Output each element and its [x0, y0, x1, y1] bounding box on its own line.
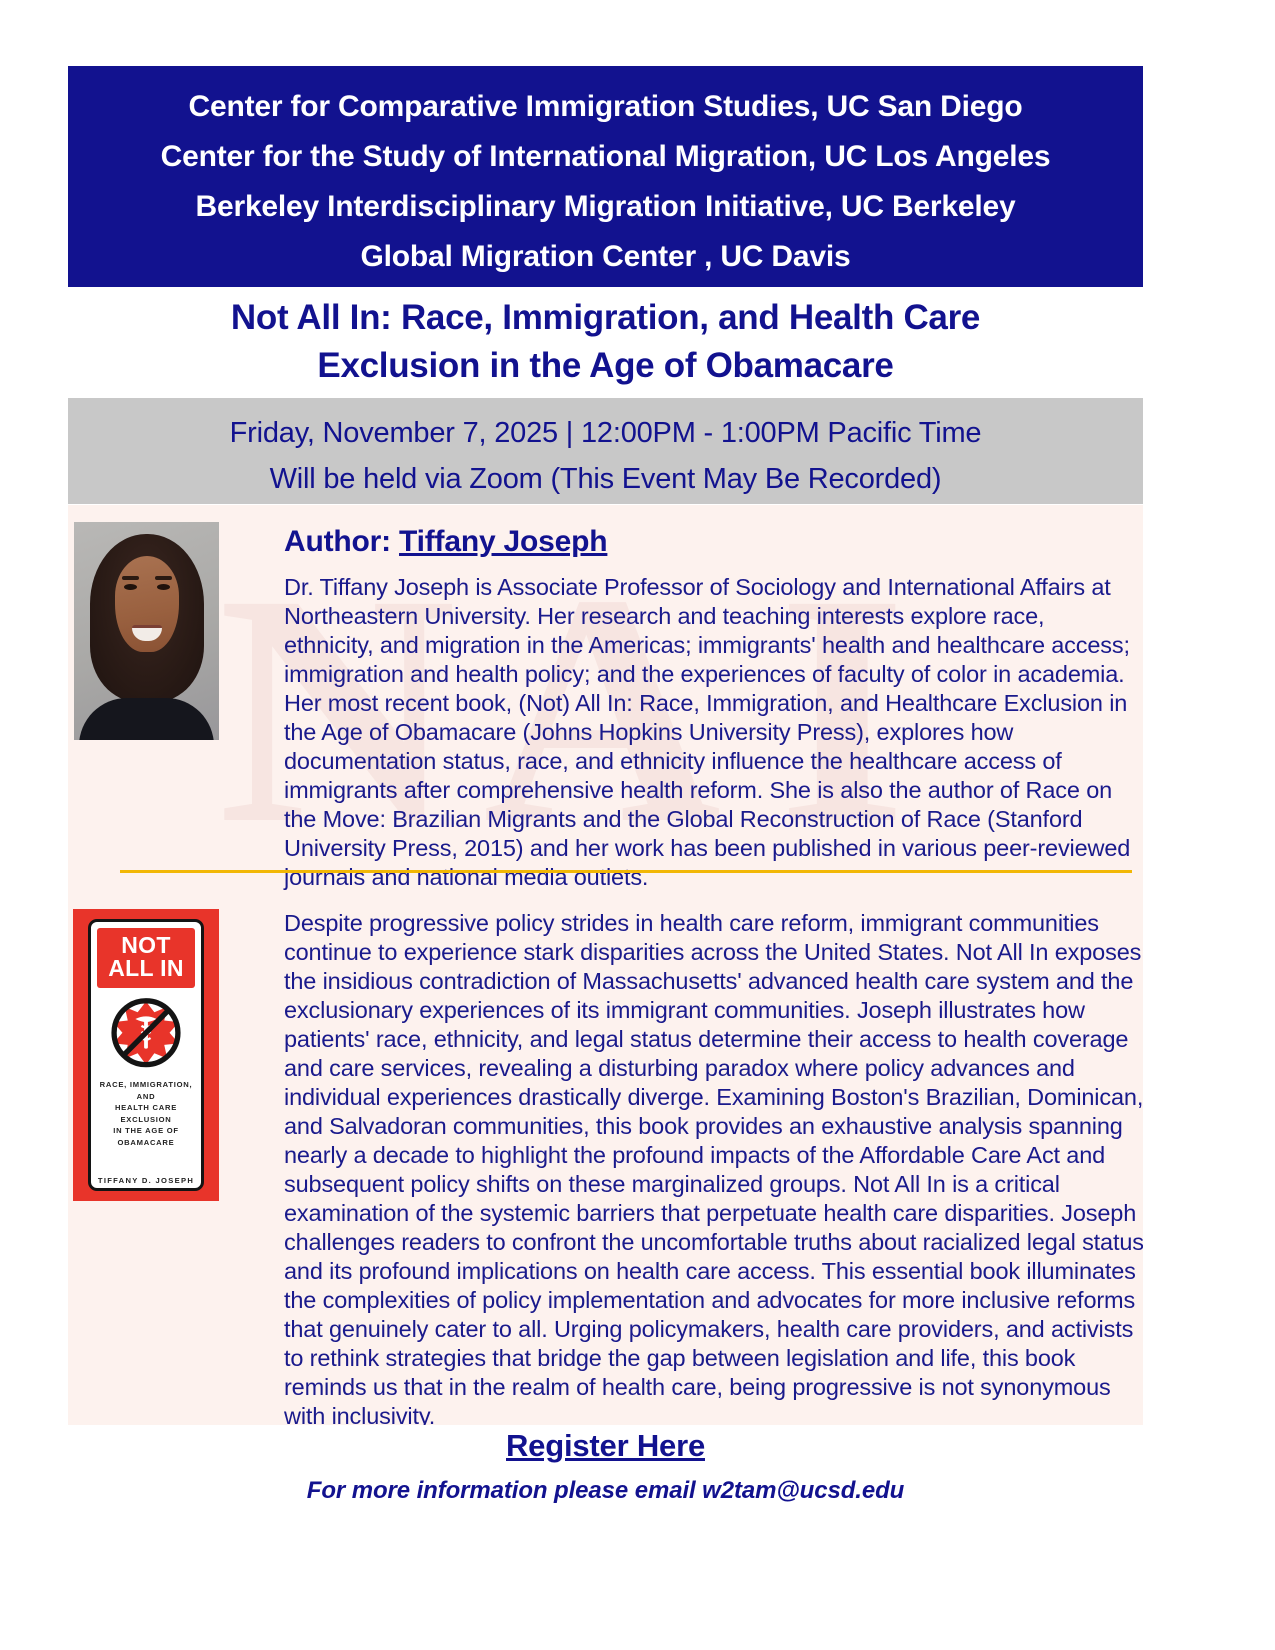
- book-cover-title: NOT ALL IN: [97, 928, 195, 988]
- book-cover-subtitle: RACE, IMMIGRATION, AND HEALTH CARE EXCLU…: [97, 1079, 195, 1148]
- book-cover-title-line-2: ALL IN: [99, 957, 193, 980]
- sponsor-line-3: Berkeley Interdisciplinary Migration Ini…: [86, 182, 1125, 232]
- headshot-brow-right: [155, 576, 172, 580]
- no-caduceus-icon: [108, 997, 184, 1073]
- sponsor-banner: Center for Comparative Immigration Studi…: [68, 66, 1143, 287]
- contact-info: For more information please email w2tam@…: [68, 1477, 1143, 1505]
- author-label: Author:: [284, 525, 399, 558]
- book-cover-subtitle-line-1: RACE, IMMIGRATION, AND: [97, 1079, 195, 1102]
- event-format-text: Will be held via Zoom (This Event May Be…: [68, 456, 1143, 502]
- headshot-eye-left: [124, 584, 137, 590]
- event-datetime-bar: Friday, November 7, 2025 | 12:00PM - 1:0…: [68, 398, 1143, 504]
- register-here-link[interactable]: Register Here: [506, 1428, 705, 1464]
- headshot-eye-right: [157, 584, 170, 590]
- event-title-line-1: Not All In: Race, Immigration, and Healt…: [68, 294, 1143, 342]
- book-cover-subtitle-line-3: IN THE AGE OF OBAMACARE: [97, 1125, 195, 1148]
- author-headshot: [74, 522, 219, 740]
- content-panel: N A I Author: Tiffany Joseph Dr. Tiffany…: [68, 505, 1143, 1425]
- event-date-text: Friday, November 7, 2025 | 12:00PM - 1:0…: [68, 410, 1143, 456]
- book-cover-subtitle-line-2: HEALTH CARE EXCLUSION: [97, 1102, 195, 1125]
- headshot-shoulders: [79, 698, 214, 740]
- book-cover-image: NOT ALL IN: [73, 909, 219, 1201]
- sponsor-line-2: Center for the Study of International Mi…: [86, 132, 1125, 182]
- book-description: Despite progressive policy strides in he…: [284, 909, 1143, 1425]
- book-cover-title-line-1: NOT: [99, 934, 193, 957]
- event-title: Not All In: Race, Immigration, and Healt…: [68, 294, 1143, 390]
- sponsor-line-1: Center for Comparative Immigration Studi…: [86, 82, 1125, 132]
- author-bio: Dr. Tiffany Joseph is Associate Professo…: [284, 573, 1132, 892]
- headshot-brow-left: [122, 576, 139, 580]
- section-divider: [120, 870, 1132, 873]
- book-cover-author: TIFFANY D. JOSEPH: [91, 1176, 201, 1185]
- author-name-link[interactable]: Tiffany Joseph: [399, 525, 607, 558]
- event-title-line-2: Exclusion in the Age of Obamacare: [68, 342, 1143, 390]
- book-cover-inner: NOT ALL IN: [88, 919, 204, 1191]
- author-heading: Author: Tiffany Joseph: [284, 525, 607, 559]
- sponsor-line-4: Global Migration Center , UC Davis: [86, 232, 1125, 282]
- event-flyer: Center for Comparative Immigration Studi…: [0, 0, 1275, 1650]
- footer: Register Here For more information pleas…: [68, 1428, 1143, 1505]
